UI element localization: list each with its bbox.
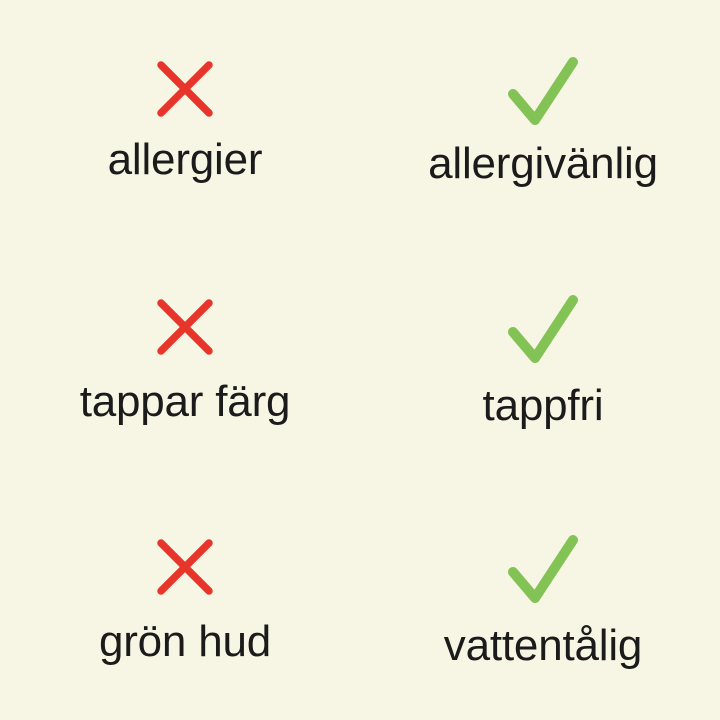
positive-label-3: vattentålig xyxy=(444,624,642,668)
check-mark-icon xyxy=(505,532,581,610)
positive-label-1: allergivänlig xyxy=(428,142,658,186)
comparison-infographic: allergier allergivänlig tappar färg tapp… xyxy=(0,0,720,720)
positive-label-2: tappfri xyxy=(483,384,604,428)
check-mark-icon xyxy=(505,292,581,370)
comparison-grid: allergier allergivänlig tappar färg tapp… xyxy=(0,0,720,720)
comparison-cell-positive-1: allergivänlig xyxy=(360,0,720,240)
comparison-cell-negative-1: allergier xyxy=(0,0,360,240)
comparison-cell-positive-2: tappfri xyxy=(360,240,720,480)
negative-label-2: tappar färg xyxy=(80,380,291,424)
comparison-cell-negative-3: grön hud xyxy=(0,480,360,720)
cross-mark-icon xyxy=(154,536,216,598)
comparison-cell-negative-2: tappar färg xyxy=(0,240,360,480)
negative-label-1: allergier xyxy=(108,138,263,182)
cross-mark-icon xyxy=(154,58,216,120)
negative-label-3: grön hud xyxy=(99,620,271,664)
cross-mark-icon xyxy=(154,296,216,358)
check-mark-icon xyxy=(505,54,581,132)
comparison-cell-positive-3: vattentålig xyxy=(360,480,720,720)
